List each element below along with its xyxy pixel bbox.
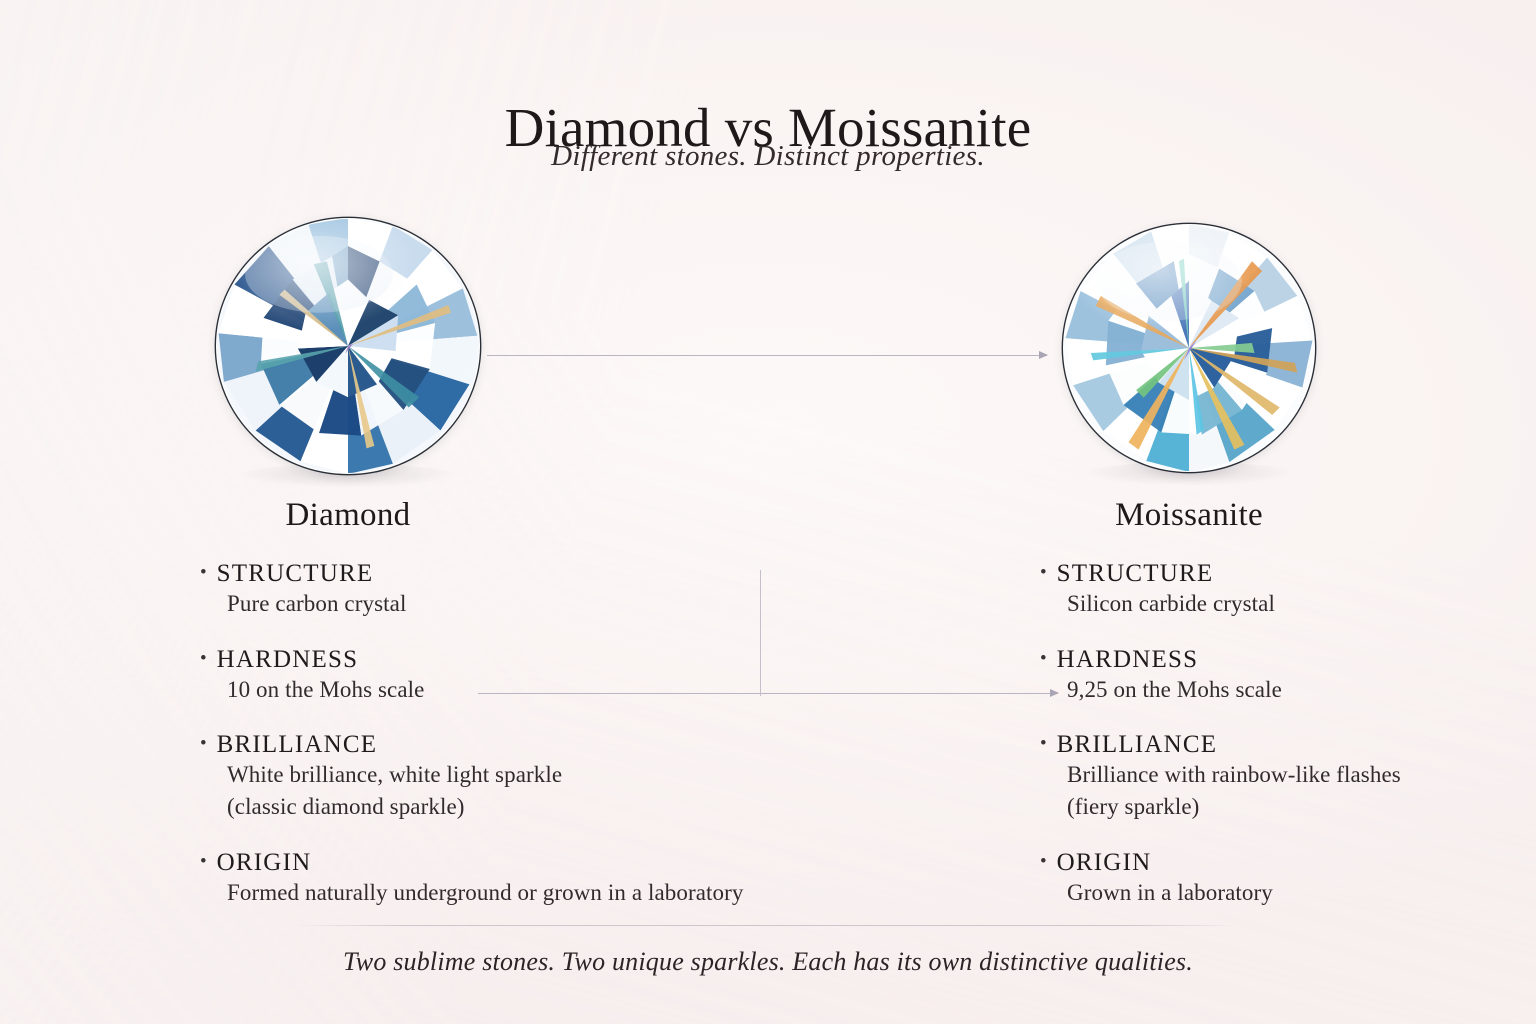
bullet-icon: • bbox=[1040, 852, 1047, 871]
spec-item: • ORIGIN Grown in a laboratory bbox=[1040, 849, 1510, 909]
spec-value: Grown in a laboratory bbox=[1067, 877, 1510, 909]
spec-value: Formed naturally underground or grown in… bbox=[227, 877, 840, 909]
diamond-spec-list: • STRUCTURE Pure carbon crystal • HARDNE… bbox=[200, 560, 840, 909]
spec-label: BRILLIANCE bbox=[217, 731, 378, 759]
moissanite-spec-list: • STRUCTURE Silicon carbide crystal • HA… bbox=[1040, 560, 1510, 909]
diamond-heading: Diamond bbox=[216, 497, 480, 534]
spec-item: • BRILLIANCE White brilliance, white lig… bbox=[200, 731, 840, 822]
spec-item: • ORIGIN Formed naturally underground or… bbox=[200, 849, 840, 909]
spec-label: ORIGIN bbox=[1057, 849, 1152, 877]
spec-value: 9,25 on the Mohs scale bbox=[1067, 674, 1510, 706]
bullet-icon: • bbox=[1040, 563, 1047, 582]
spec-item: • HARDNESS 10 on the Mohs scale bbox=[200, 646, 840, 706]
page-subtitle: Different stones. Distinct properties. bbox=[0, 140, 1536, 173]
bullet-icon: • bbox=[200, 649, 207, 668]
gem-comparison-arrow bbox=[487, 355, 1047, 356]
spec-label: HARDNESS bbox=[217, 646, 359, 674]
spec-item: • STRUCTURE Silicon carbide crystal bbox=[1040, 560, 1510, 620]
spec-label: STRUCTURE bbox=[217, 560, 374, 588]
bullet-icon: • bbox=[200, 852, 207, 871]
infographic-canvas: Diamond vs Moissanite Different stones. … bbox=[0, 0, 1536, 1024]
arrow-head-icon bbox=[1039, 351, 1048, 359]
moissanite-heading: Moissanite bbox=[1063, 497, 1315, 534]
footer-divider bbox=[295, 925, 1240, 926]
spec-label: BRILLIANCE bbox=[1057, 731, 1218, 759]
spec-value: Brilliance with rainbow-like flashes (fi… bbox=[1067, 759, 1510, 822]
spec-item: • STRUCTURE Pure carbon crystal bbox=[200, 560, 840, 620]
spec-value: White brilliance, white light sparkle (c… bbox=[227, 759, 840, 822]
footer-caption: Two sublime stones. Two unique sparkles.… bbox=[0, 947, 1536, 977]
spec-label: STRUCTURE bbox=[1057, 560, 1214, 588]
spec-label: HARDNESS bbox=[1057, 646, 1199, 674]
spec-value: Silicon carbide crystal bbox=[1067, 588, 1510, 620]
spec-item: • HARDNESS 9,25 on the Mohs scale bbox=[1040, 646, 1510, 706]
spec-item: • BRILLIANCE Brilliance with rainbow-lik… bbox=[1040, 731, 1510, 822]
spec-value: Pure carbon crystal bbox=[227, 588, 840, 620]
moissanite-gem-figure bbox=[1063, 224, 1315, 472]
bullet-icon: • bbox=[200, 563, 207, 582]
bullet-icon: • bbox=[1040, 734, 1047, 753]
bullet-icon: • bbox=[1040, 649, 1047, 668]
diamond-gem-figure bbox=[216, 218, 480, 474]
round-brilliant-moissanite-icon bbox=[1063, 224, 1315, 472]
spec-label: ORIGIN bbox=[217, 849, 312, 877]
bullet-icon: • bbox=[200, 734, 207, 753]
spec-value: 10 on the Mohs scale bbox=[227, 674, 840, 706]
round-brilliant-diamond-icon bbox=[216, 218, 480, 474]
